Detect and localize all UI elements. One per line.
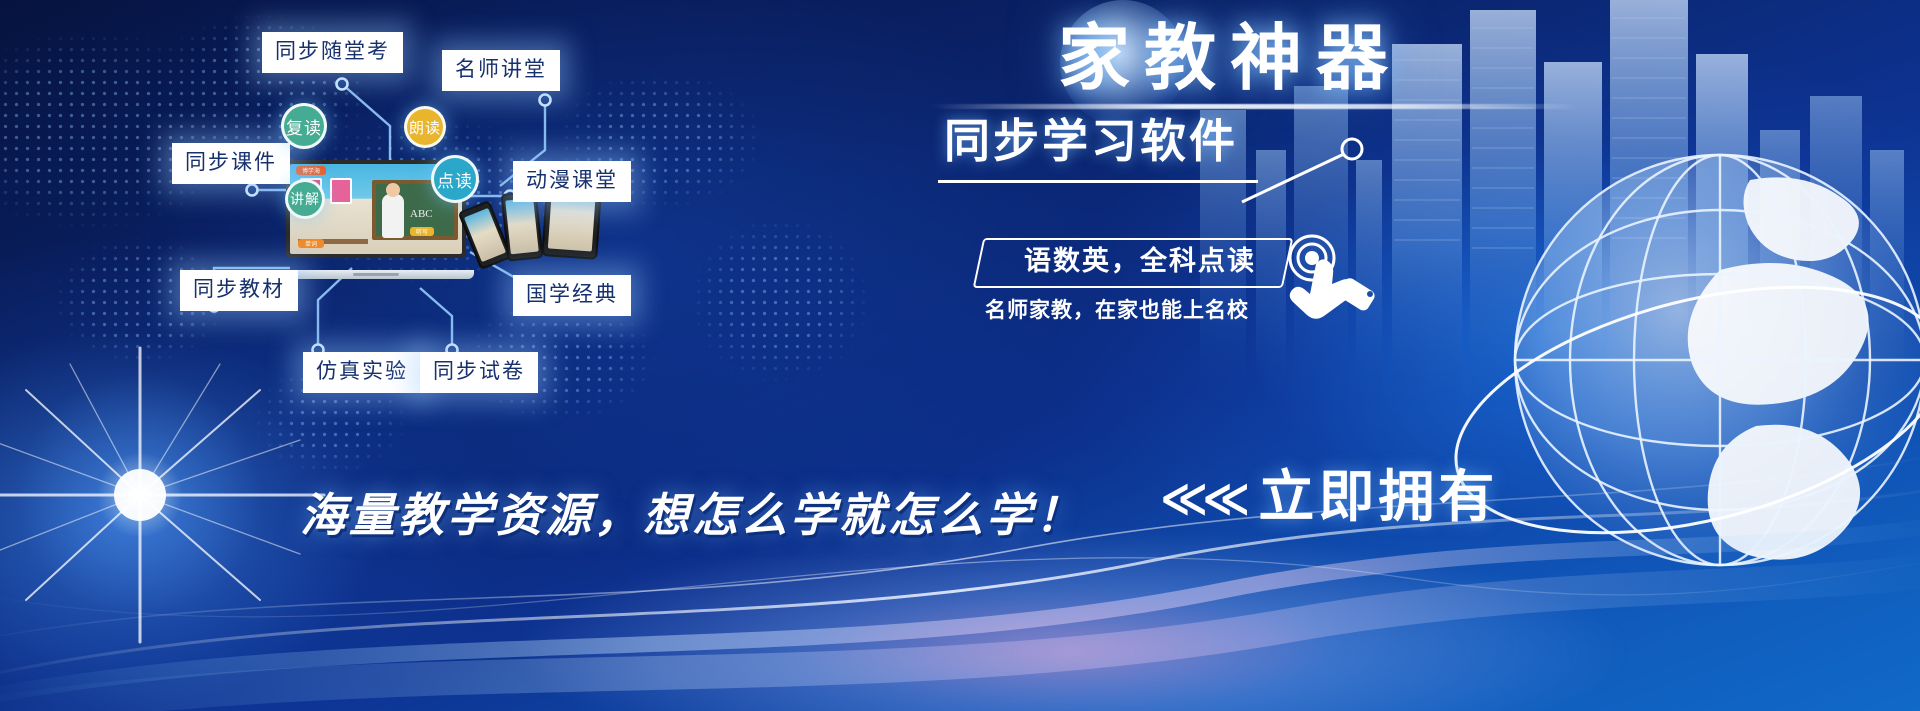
feature-bubble-label: 点读	[437, 167, 473, 192]
feature-bubble-diandu[interactable]: 点读	[431, 155, 479, 203]
feature-tag-label: 同步试卷	[433, 360, 525, 383]
feature-bubble-label: 讲解	[290, 189, 320, 209]
feature-tag-label: 动漫课堂	[526, 169, 618, 192]
bottom-glow	[520, 531, 1620, 711]
feature-tag-2[interactable]: 同步课件	[172, 143, 290, 184]
feature-tag-3[interactable]: 动漫课堂	[513, 161, 631, 202]
feature-bubble-label: 复读	[286, 114, 322, 139]
cta-label: 立即拥有	[1258, 470, 1498, 526]
feature-bubble-label: 朗读	[409, 117, 441, 138]
cta-button[interactable]: ≪≪ 立即拥有	[1160, 470, 1498, 526]
connector-pin-icon	[1240, 136, 1370, 206]
feature-tag-label: 名师讲堂	[455, 58, 547, 81]
poster	[330, 178, 352, 204]
feature-tag-7[interactable]: 同步试卷	[420, 352, 538, 393]
feature-bubble-langdu[interactable]: 朗读	[404, 106, 446, 148]
subtitle-rule	[938, 180, 1258, 183]
hand-pointer-icon	[1282, 230, 1392, 340]
feature-bubble-fudu[interactable]: 复读	[281, 103, 327, 149]
laptop-base	[278, 270, 474, 279]
feature-tag-label: 仿真实验	[316, 360, 408, 383]
feature-bubble-jiangjie[interactable]: 讲解	[285, 179, 325, 219]
badge-word: 单词	[298, 239, 324, 248]
subtitle: 同步学习软件	[944, 118, 1238, 164]
feature-tag-label: 同步教材	[193, 278, 285, 301]
bottom-slogan: 海量教学资源，想怎么学就怎么学！	[300, 492, 1084, 538]
feature-tag-label: 同步课件	[185, 151, 277, 174]
tagline: 名师家教，在家也能上名校	[962, 300, 1272, 321]
badge-dictation: 听写	[410, 227, 434, 236]
badge-app-name: 博学海	[296, 166, 326, 175]
abc-text: ABC	[410, 208, 433, 220]
feature-diagram: ABC 博学海 单词 听写 同步随堂考 名师讲堂 同步课件	[0, 0, 900, 520]
feature-tag-label: 国学经典	[526, 283, 618, 306]
feature-tag-0[interactable]: 同步随堂考	[262, 32, 403, 73]
page-title: 家教神器	[1058, 22, 1402, 94]
headline-underline-streak	[930, 104, 1580, 109]
banner-stage: ABC 博学海 单词 听写 同步随堂考 名师讲堂 同步课件	[0, 0, 1920, 711]
feature-tag-label: 同步随堂考	[275, 40, 390, 63]
feature-tag-6[interactable]: 仿真实验	[303, 352, 421, 393]
teacher-figure	[382, 194, 404, 238]
feature-tag-4[interactable]: 同步教材	[180, 270, 298, 311]
cta-arrows-icon: ≪≪	[1160, 475, 1244, 521]
feature-tag-1[interactable]: 名师讲堂	[442, 50, 560, 91]
feature-tag-5[interactable]: 国学经典	[513, 275, 631, 316]
feature-pill-text: 语数英，全科点读	[1000, 248, 1280, 275]
